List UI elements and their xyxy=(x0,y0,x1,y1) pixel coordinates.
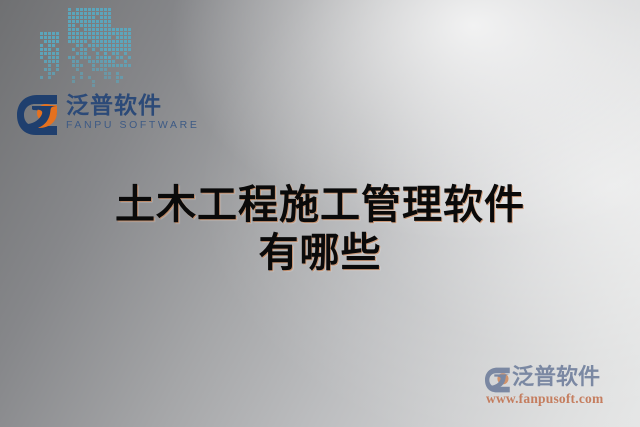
brand-name-cn: 泛普软件 xyxy=(66,92,188,118)
fanpu-swoosh-logo-icon xyxy=(484,367,512,393)
brand-logo: 泛普软件 FANPU SOFTWARE xyxy=(14,92,189,140)
brand-name-en: FANPU SOFTWARE xyxy=(66,119,188,132)
watermark-brand-name: 泛普软件 xyxy=(512,364,600,390)
watermark-url: www.fanpusoft.com xyxy=(486,391,603,407)
slide-canvas: 泛普软件 FANPU SOFTWARE 土木工程施工管理软件 有哪些 泛普软件 … xyxy=(0,0,640,427)
page-title-line-2: 有哪些 xyxy=(0,229,640,277)
watermark: 泛普软件 www.fanpusoft.com xyxy=(484,363,634,413)
page-title-line-1: 土木工程施工管理软件 xyxy=(0,181,640,229)
page-title: 土木工程施工管理软件 有哪些 xyxy=(0,181,640,277)
pixel-skyline-icon xyxy=(40,4,136,88)
brand-text-block: 泛普软件 FANPU SOFTWARE xyxy=(66,92,188,132)
fanpu-swoosh-logo-icon xyxy=(16,94,60,136)
